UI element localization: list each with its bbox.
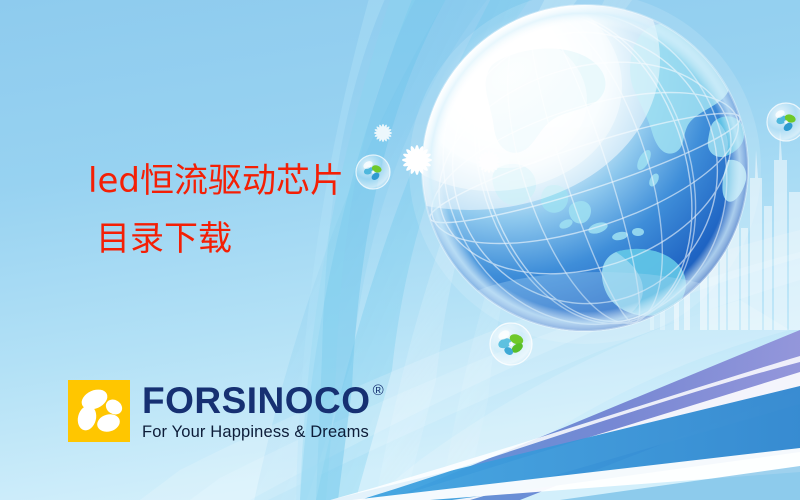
four-petal-flower-icon <box>68 380 130 442</box>
promotional-banner: led恒流驱动芯片 目录下载 FORSINOCO <box>0 0 800 500</box>
logo-tagline: For Your Happiness & Dreams <box>142 423 384 442</box>
wordmark-text: FORSINOCO <box>142 382 371 419</box>
flower-sparkle-small <box>374 124 392 142</box>
bubble-pinwheel-right <box>767 103 800 141</box>
headline-line-2: 目录下载 <box>96 218 418 262</box>
headline-text: led恒流驱动芯片 目录下载 <box>78 160 418 261</box>
logo-wordmark-block: FORSINOCO ® For Your Happiness & Dreams <box>142 380 384 442</box>
bubble-pinwheel-bottom <box>490 323 532 365</box>
registered-trademark-symbol: ® <box>373 383 384 398</box>
headline-line-1: led恒流驱动芯片 <box>88 160 418 204</box>
flower-sparkle-tiny <box>478 151 500 173</box>
company-logo: FORSINOCO ® For Your Happiness & Dreams <box>68 380 384 442</box>
